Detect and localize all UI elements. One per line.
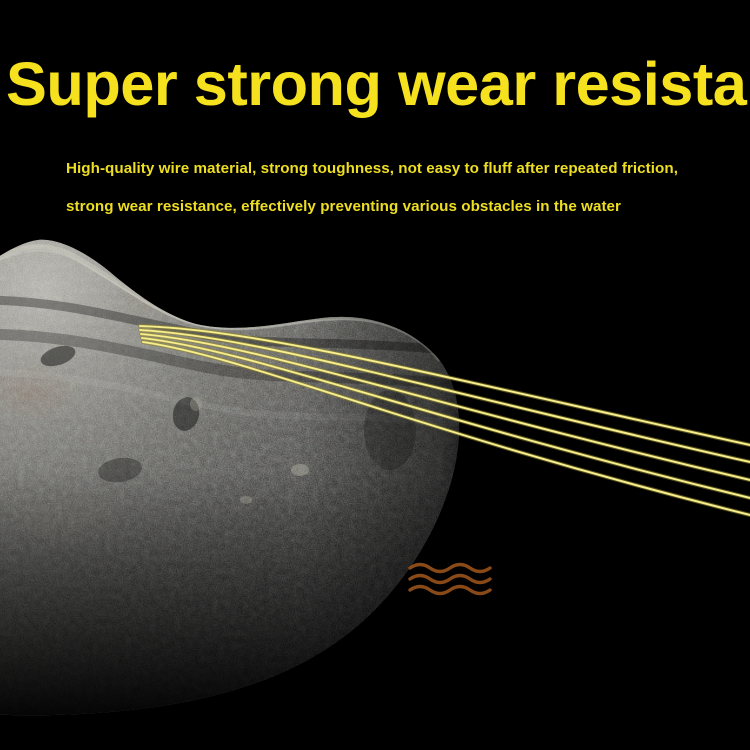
- promo-banner: Super strong wear resistance High-qualit…: [0, 0, 750, 750]
- page-title: Super strong wear resistance: [6, 52, 750, 116]
- rock-body: [0, 230, 500, 730]
- description-text: High-quality wire material, strong tough…: [66, 150, 690, 226]
- water-ripple-motif: [410, 565, 490, 594]
